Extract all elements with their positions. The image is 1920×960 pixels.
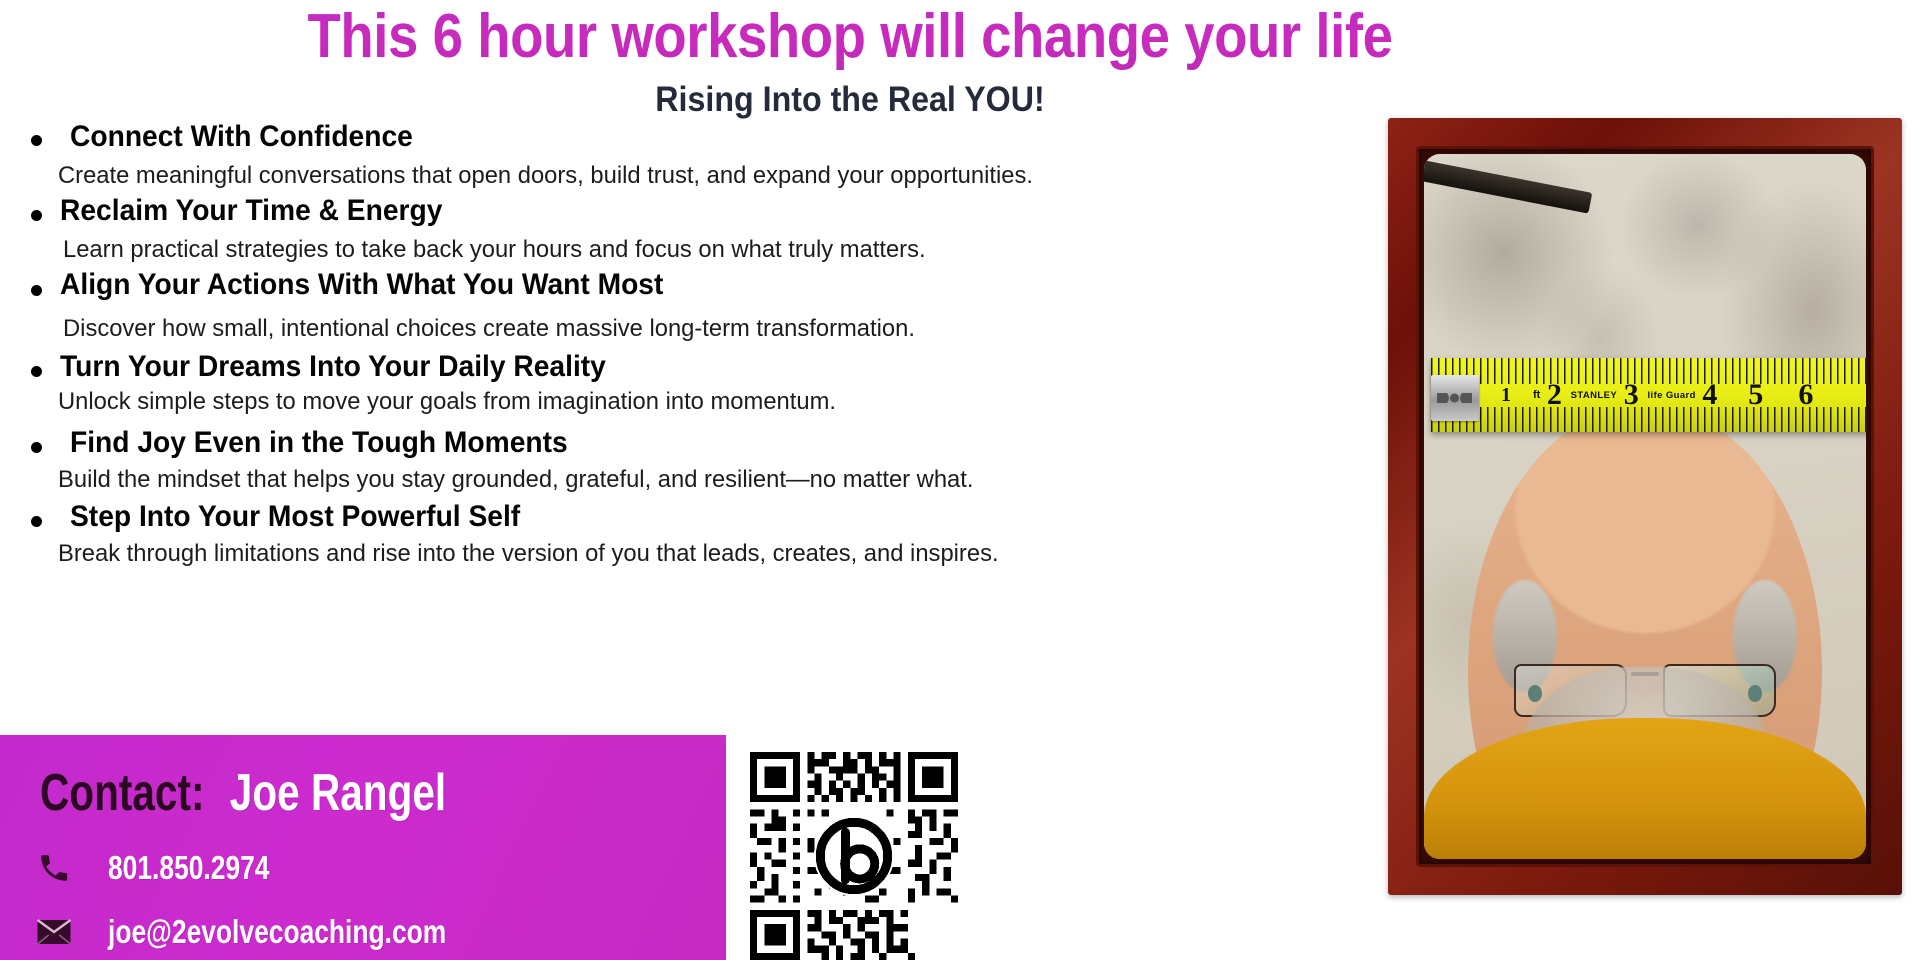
- portrait-photo: 1 ft 2 STANLEY 3 life Guard 4 5: [1424, 154, 1866, 859]
- tape-num-1: 1: [1501, 384, 1511, 407]
- tape-unit-ft: ft: [1533, 390, 1540, 402]
- contact-email-row[interactable]: joe@2evolvecoaching.com: [28, 913, 531, 951]
- benefit-description: Discover how small, intentional choices …: [63, 315, 1088, 343]
- flyer-header: This 6 hour workshop will change your li…: [0, 0, 1700, 120]
- benefit-description: Break through limitations and rise into …: [58, 540, 1088, 568]
- tape-num-4: 4: [1702, 378, 1717, 412]
- benefit-heading: Find Joy Even in the Tough Moments: [70, 426, 1057, 460]
- bullet-icon: [31, 366, 42, 377]
- list-item: Find Joy Even in the Tough Moments Build…: [0, 426, 1120, 500]
- tape-num-6: 6: [1798, 378, 1813, 412]
- contact-phone-row[interactable]: 801.850.2974: [28, 849, 310, 887]
- contact-label: Contact:: [40, 764, 204, 822]
- envelope-icon: [28, 917, 80, 947]
- benefit-heading: Reclaim Your Time & Energy: [60, 194, 1056, 228]
- contact-email-value: joe@2evolvecoaching.com: [108, 913, 446, 951]
- contact-name-row: Contact: Joe Rangel: [40, 765, 446, 821]
- list-item: Step Into Your Most Powerful Self Break …: [0, 500, 1120, 574]
- bullet-icon: [31, 442, 42, 453]
- tape-num-2: 2: [1547, 378, 1562, 412]
- page-title: This 6 hour workshop will change your li…: [102, 0, 1598, 70]
- benefit-description: Build the mindset that helps you stay gr…: [58, 466, 1088, 494]
- bullet-icon: [31, 285, 42, 296]
- bullet-icon: [31, 516, 42, 527]
- tape-measure: 1 ft 2 STANLEY 3 life Guard 4 5: [1431, 358, 1866, 432]
- eye-left: [1528, 685, 1542, 702]
- benefit-description: Create meaningful conversations that ope…: [58, 162, 1088, 190]
- contact-phone-value: 801.850.2974: [108, 849, 270, 887]
- tape-num-3: 3: [1624, 378, 1639, 412]
- phone-icon: [28, 851, 80, 885]
- eye-right: [1748, 685, 1762, 702]
- benefit-heading: Turn Your Dreams Into Your Daily Reality: [60, 350, 1056, 384]
- benefits-list: Connect With Confidence Create meaningfu…: [0, 120, 1120, 574]
- tape-brand: STANLEY: [1571, 390, 1617, 401]
- photo-frame-mat: 1 ft 2 STANLEY 3 life Guard 4 5: [1416, 146, 1874, 867]
- tape-measure-numbers: 1 ft 2 STANLEY 3 life Guard 4 5: [1431, 378, 1866, 412]
- benefit-heading: Step Into Your Most Powerful Self: [70, 500, 1057, 534]
- benefit-heading: Align Your Actions With What You Want Mo…: [60, 268, 1056, 302]
- tape-hook: [1431, 375, 1479, 421]
- list-item: Align Your Actions With What You Want Mo…: [0, 268, 1120, 350]
- qr-code[interactable]: [750, 752, 958, 960]
- contact-person-name: Joe Rangel: [230, 764, 446, 822]
- page-subtitle: Rising Into the Real YOU!: [68, 80, 1632, 120]
- photo-frame: 1 ft 2 STANLEY 3 life Guard 4 5: [1388, 118, 1902, 895]
- benefit-description: Unlock simple steps to move your goals f…: [58, 388, 1088, 416]
- list-item: Reclaim Your Time & Energy Learn practic…: [0, 194, 1120, 268]
- bullet-icon: [31, 135, 42, 146]
- contact-banner: Contact: Joe Rangel 801.850.2974 joe@2ev…: [0, 735, 726, 960]
- list-item: Connect With Confidence Create meaningfu…: [0, 120, 1120, 194]
- benefit-description: Learn practical strategies to take back …: [63, 236, 1088, 264]
- tape-num-5: 5: [1748, 378, 1763, 412]
- bullet-icon: [31, 210, 42, 221]
- benefit-heading: Connect With Confidence: [70, 120, 1057, 154]
- list-item: Turn Your Dreams Into Your Daily Reality…: [0, 350, 1120, 426]
- tape-sub-brand: life Guard: [1647, 390, 1695, 401]
